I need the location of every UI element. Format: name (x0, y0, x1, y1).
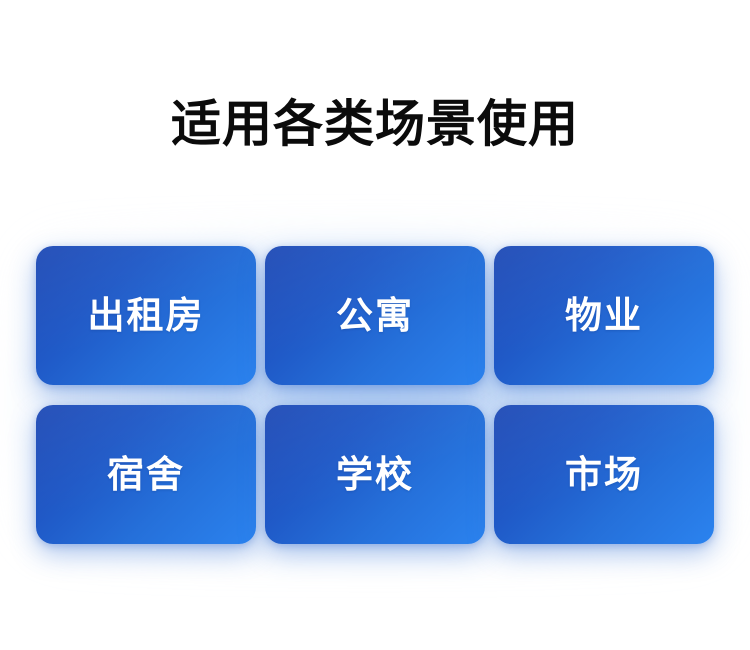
scenario-card-grid: 出租房 公寓 物业 宿舍 学校 市场 (36, 246, 714, 544)
scenario-card-dormitory[interactable]: 宿舍 (36, 405, 256, 544)
page-title: 适用各类场景使用 (0, 92, 750, 156)
scenario-card-property[interactable]: 物业 (494, 246, 714, 385)
scenario-card-label: 物业 (565, 297, 643, 334)
scenario-card-label: 公寓 (336, 297, 414, 334)
scenario-card-apartment[interactable]: 公寓 (265, 246, 485, 385)
scenario-card-school[interactable]: 学校 (265, 405, 485, 544)
scenario-card-label: 宿舍 (107, 456, 185, 493)
scenario-card-rental-house[interactable]: 出租房 (36, 246, 256, 385)
scenario-card-label: 出租房 (88, 297, 205, 334)
scenario-showcase-page: 适用各类场景使用 出租房 公寓 物业 宿舍 学校 市场 (0, 0, 750, 650)
scenario-card-label: 学校 (336, 456, 414, 493)
scenario-card-market[interactable]: 市场 (494, 405, 714, 544)
scenario-card-label: 市场 (565, 456, 643, 493)
